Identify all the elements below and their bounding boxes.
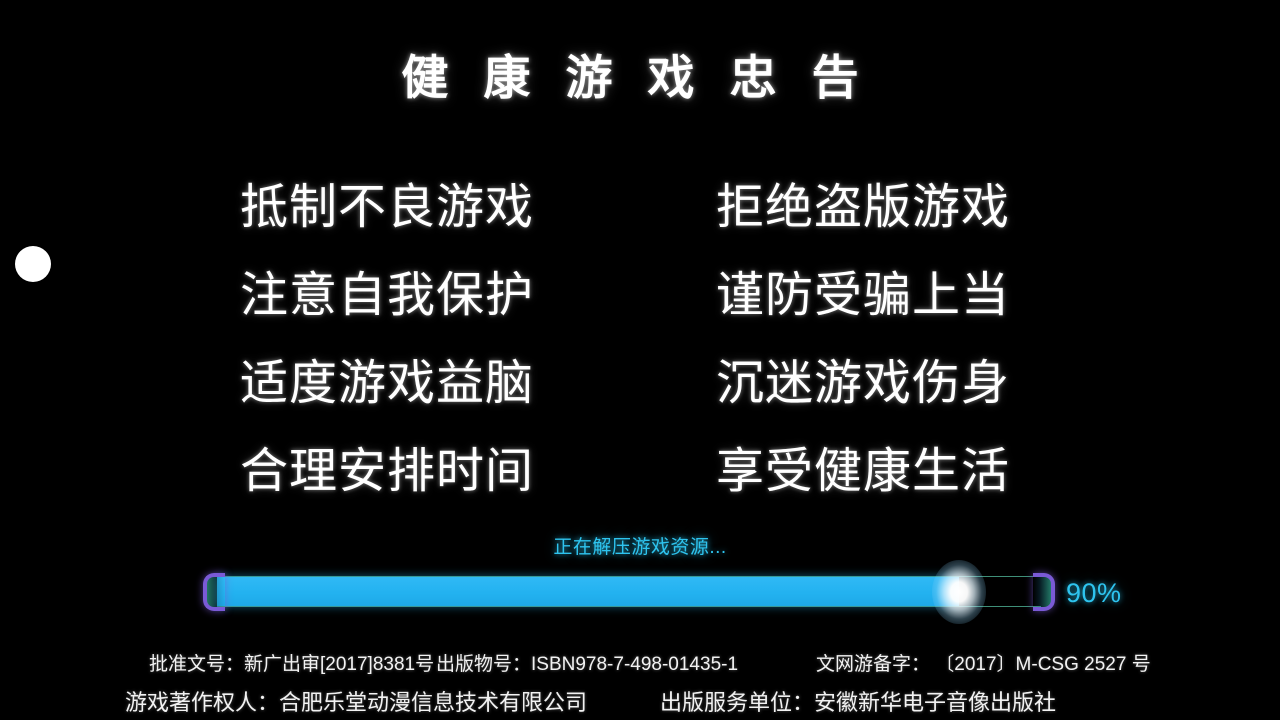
publishing-service: 出版服务单位：安徽新华电子音像出版社 (660, 688, 1240, 718)
advice-text: 享受健康生活 (660, 428, 1010, 516)
advice-row: 合理安排时间 享受健康生活 (240, 428, 1010, 516)
game-loading-screen: 健 康 游 戏 忠 告 抵制不良游戏 拒绝盗版游戏 注意自我保护 谨防受骗上当 … (0, 0, 1280, 720)
advice-text: 合理安排时间 (240, 428, 590, 516)
loading-progress-bar (203, 573, 1055, 611)
legal-info-row-1: 批准文号：新广出审[2017]8381号 出版物号：ISBN978-7-498-… (0, 652, 1280, 678)
healthy-gaming-advice-grid: 抵制不良游戏 拒绝盗版游戏 注意自我保护 谨防受骗上当 适度游戏益脑 沉迷游戏伤… (240, 164, 1010, 516)
publication-isbn: 出版物号：ISBN978-7-498-01435-1 (436, 652, 816, 678)
cursor-pointer-dot (15, 246, 51, 282)
progress-fill (217, 577, 959, 606)
advice-text: 沉迷游戏伤身 (660, 340, 1010, 428)
advice-text: 适度游戏益脑 (240, 340, 590, 428)
advice-text: 拒绝盗版游戏 (660, 164, 1010, 252)
loading-status-text: 正在解压游戏资源... (0, 535, 1280, 561)
progress-percent-label: 90% (1066, 578, 1122, 608)
advice-text: 注意自我保护 (240, 252, 590, 340)
copyright-holder: 游戏著作权人：合肥乐堂动漫信息技术有限公司 (40, 688, 660, 718)
progress-cap-left-icon (203, 573, 225, 611)
progress-cap-right-icon (1033, 573, 1055, 611)
advice-text: 谨防受骗上当 (660, 252, 1010, 340)
page-title: 健 康 游 戏 忠 告 (0, 47, 1260, 109)
advice-row: 适度游戏益脑 沉迷游戏伤身 (240, 340, 1010, 428)
legal-info-row-2: 游戏著作权人：合肥乐堂动漫信息技术有限公司 出版服务单位：安徽新华电子音像出版社 (0, 688, 1280, 718)
approval-number: 批准文号：新广出审[2017]8381号 (64, 652, 436, 678)
online-game-filing-number: 文网游备字： 〔2017〕M-CSG 2527 号 (816, 652, 1216, 678)
advice-text: 抵制不良游戏 (240, 164, 590, 252)
progress-track (217, 576, 1041, 607)
advice-row: 抵制不良游戏 拒绝盗版游戏 (240, 164, 1010, 252)
advice-row: 注意自我保护 谨防受骗上当 (240, 252, 1010, 340)
